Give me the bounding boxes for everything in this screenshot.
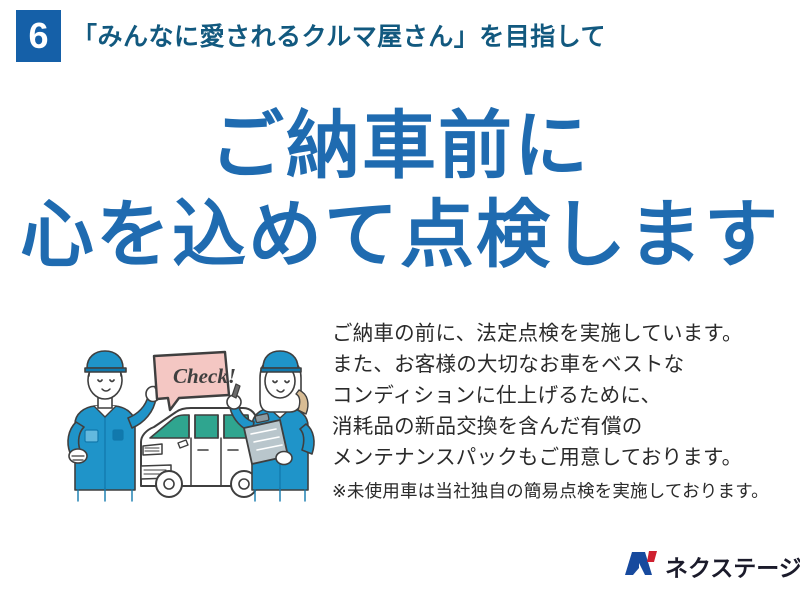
mechanics-illustration: Check! [58, 338, 328, 503]
body-footnote: ※未使用車は当社独自の簡易点検を実施しております。 [332, 476, 782, 507]
check-bubble-label: Check! [173, 364, 236, 388]
check-speech-bubble: Check! [154, 352, 236, 410]
header-title: 「みんなに愛されるクルマ屋さん」を目指して [72, 17, 606, 53]
body-line-1: ご納車の前に、法定点検を実施しています。 [332, 318, 782, 349]
brand-name: ネクステージ [665, 549, 800, 583]
headline-line-1: ご納車前に [0, 108, 800, 183]
step-number-badge: 6 [16, 10, 61, 62]
body-copy: ご納車の前に、法定点検を実施しています。 また、お客様の大切なお車をベストな コ… [332, 318, 782, 507]
promo-page: 6 「みんなに愛されるクルマ屋さん」を目指して ご納車前に 心を込めて点検します… [0, 0, 800, 600]
body-line-3: コンディションに仕上げるために、 [332, 380, 782, 411]
brand-logo: ネクステージ [624, 551, 800, 581]
body-line-5: メンテナンスパックもご用意しております。 [332, 442, 782, 473]
body-line-2: また、お客様の大切なお車をベストな [332, 349, 782, 380]
page-headline: ご納車前に 心を込めて点検します [0, 108, 800, 273]
body-line-4: 消耗品の新品交換を含んだ有償の [332, 411, 782, 442]
headline-line-2: 心を込めて点検します [0, 197, 800, 272]
nexstage-n-mark-icon [624, 550, 658, 582]
